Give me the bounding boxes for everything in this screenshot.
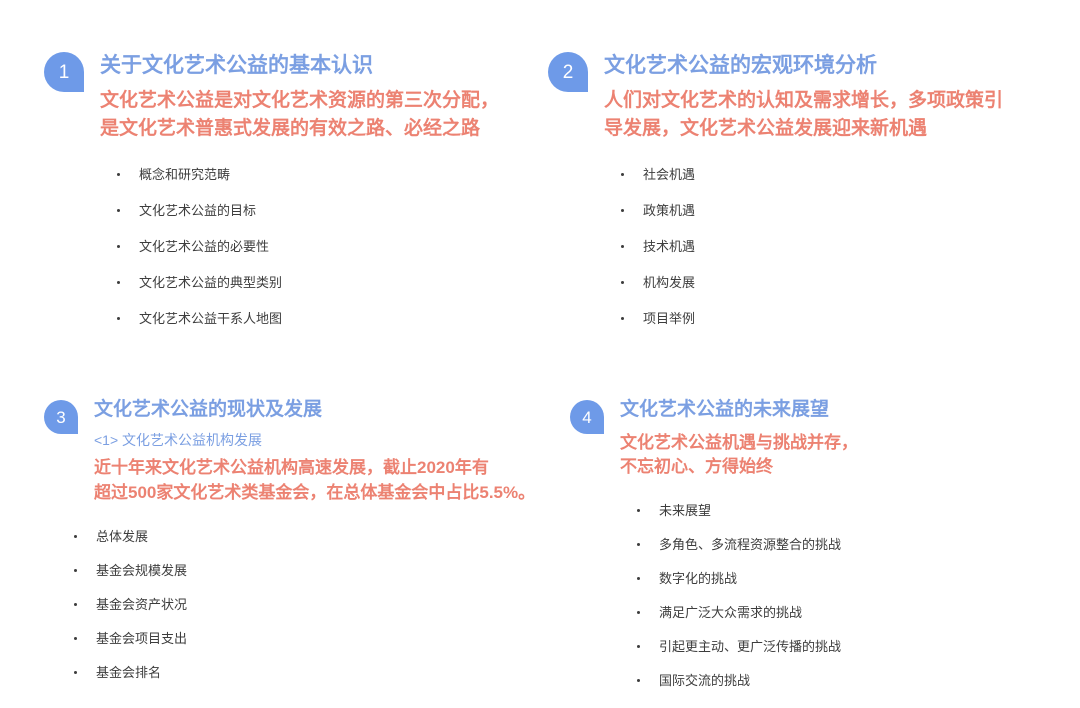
bullet-dot-icon — [621, 245, 624, 248]
summary-line: 文化艺术公益机遇与挑战并存， — [620, 431, 1040, 456]
section-4-bullet-list: 未来展望 多角色、多流程资源整合的挑战 数字化的挑战 满足广泛大众需求的挑战 引… — [633, 504, 1040, 687]
section-2-summary: 人们对文化艺术的认知及需求增长，多项政策引 导发展，文化艺术公益发展迎来新机遇 — [604, 87, 1058, 142]
list-item[interactable]: 文化艺术公益的必要性 — [113, 240, 524, 253]
bullet-dot-icon — [74, 535, 77, 538]
list-item[interactable]: 文化艺术公益干系人地图 — [113, 312, 524, 325]
section-3-bullet-list: 总体发展 基金会规模发展 基金会资产状况 基金会项目支出 基金会排名 — [70, 530, 544, 679]
section-number-badge-4: 4 — [570, 400, 604, 434]
list-item-label: 文化艺术公益干系人地图 — [139, 312, 282, 325]
section-2-content: 文化艺术公益的宏观环境分析 人们对文化艺术的认知及需求增长，多项政策引 导发展，… — [604, 52, 1058, 348]
section-3-sublabel: <1> 文化艺术公益机构发展 — [94, 431, 544, 451]
list-item-label: 引起更主动、更广泛传播的挑战 — [659, 640, 841, 653]
bullet-dot-icon — [117, 317, 120, 320]
bullet-dot-icon — [621, 317, 624, 320]
section-1-bullet-list: 概念和研究范畴 文化艺术公益的目标 文化艺术公益的必要性 文化艺术公益的典型类别… — [113, 168, 524, 325]
list-item-label: 概念和研究范畴 — [139, 168, 230, 181]
summary-line: 导发展，文化艺术公益发展迎来新机遇 — [604, 115, 1058, 143]
section-number-badge-1: 1 — [44, 52, 84, 92]
list-item-label: 数字化的挑战 — [659, 572, 737, 585]
section-3-content: 文化艺术公益的现状及发展 <1> 文化艺术公益机构发展 近十年来文化艺术公益机构… — [94, 398, 544, 700]
bullet-dot-icon — [74, 603, 77, 606]
list-item[interactable]: 基金会项目支出 — [70, 632, 544, 645]
bullet-dot-icon — [117, 173, 120, 176]
section-1-heading: 关于文化艺术公益的基本认识 — [100, 52, 524, 79]
bullet-dot-icon — [117, 281, 120, 284]
list-item[interactable]: 满足广泛大众需求的挑战 — [633, 606, 1040, 619]
section-3-heading: 文化艺术公益的现状及发展 — [94, 398, 544, 423]
summary-line: 近十年来文化艺术公益机构高速发展，截止2020年有 — [94, 456, 544, 481]
section-4: 4 文化艺术公益的未来展望 文化艺术公益机遇与挑战并存， 不忘初心、方得始终 未… — [570, 398, 1040, 708]
list-item[interactable]: 项目举例 — [617, 312, 1058, 325]
outline-grid: 1 关于文化艺术公益的基本认识 文化艺术公益是对文化艺术资源的第三次分配， 是文… — [0, 0, 1080, 700]
list-item[interactable]: 机构发展 — [617, 276, 1058, 289]
section-3-summary: 近十年来文化艺术公益机构高速发展，截止2020年有 超过500家文化艺术类基金会… — [94, 456, 544, 505]
list-item-label: 国际交流的挑战 — [659, 674, 750, 687]
section-4-summary: 文化艺术公益机遇与挑战并存， 不忘初心、方得始终 — [620, 431, 1040, 480]
list-item-label: 技术机遇 — [643, 240, 695, 253]
bullet-dot-icon — [117, 245, 120, 248]
list-item[interactable]: 国际交流的挑战 — [633, 674, 1040, 687]
bullet-dot-icon — [637, 679, 640, 682]
list-item-label: 基金会资产状况 — [96, 598, 187, 611]
list-item-label: 满足广泛大众需求的挑战 — [659, 606, 802, 619]
bullet-dot-icon — [74, 671, 77, 674]
bullet-dot-icon — [74, 637, 77, 640]
list-item[interactable]: 文化艺术公益的目标 — [113, 204, 524, 217]
bullet-dot-icon — [74, 569, 77, 572]
list-item[interactable]: 基金会规模发展 — [70, 564, 544, 577]
list-item[interactable]: 引起更主动、更广泛传播的挑战 — [633, 640, 1040, 653]
summary-line: 人们对文化艺术的认知及需求增长，多项政策引 — [604, 87, 1058, 115]
section-2: 2 文化艺术公益的宏观环境分析 人们对文化艺术的认知及需求增长，多项政策引 导发… — [548, 52, 1058, 348]
section-1-content: 关于文化艺术公益的基本认识 文化艺术公益是对文化艺术资源的第三次分配， 是文化艺… — [100, 52, 524, 348]
list-item-label: 文化艺术公益的典型类别 — [139, 276, 282, 289]
list-item-label: 基金会规模发展 — [96, 564, 187, 577]
list-item-label: 机构发展 — [643, 276, 695, 289]
list-item-label: 项目举例 — [643, 312, 695, 325]
list-item[interactable]: 文化艺术公益的典型类别 — [113, 276, 524, 289]
bullet-dot-icon — [621, 173, 624, 176]
section-number-badge-2: 2 — [548, 52, 588, 92]
summary-line: 超过500家文化艺术类基金会，在总体基金会中占比5.5%。 — [94, 481, 544, 506]
list-item[interactable]: 基金会排名 — [70, 666, 544, 679]
bullet-dot-icon — [637, 543, 640, 546]
list-item[interactable]: 总体发展 — [70, 530, 544, 543]
bullet-dot-icon — [637, 645, 640, 648]
section-2-heading: 文化艺术公益的宏观环境分析 — [604, 52, 1058, 79]
bullet-dot-icon — [637, 611, 640, 614]
section-4-content: 文化艺术公益的未来展望 文化艺术公益机遇与挑战并存， 不忘初心、方得始终 未来展… — [620, 398, 1040, 708]
list-item-label: 总体发展 — [96, 530, 148, 543]
section-4-heading: 文化艺术公益的未来展望 — [620, 398, 1040, 423]
list-item[interactable]: 数字化的挑战 — [633, 572, 1040, 585]
section-2-bullet-list: 社会机遇 政策机遇 技术机遇 机构发展 项目举例 — [617, 168, 1058, 325]
list-item[interactable]: 未来展望 — [633, 504, 1040, 517]
list-item-label: 文化艺术公益的目标 — [139, 204, 256, 217]
section-1: 1 关于文化艺术公益的基本认识 文化艺术公益是对文化艺术资源的第三次分配， 是文… — [44, 52, 524, 348]
summary-line: 不忘初心、方得始终 — [620, 455, 1040, 480]
list-item[interactable]: 社会机遇 — [617, 168, 1058, 181]
section-number-badge-3: 3 — [44, 400, 78, 434]
list-item[interactable]: 多角色、多流程资源整合的挑战 — [633, 538, 1040, 551]
summary-line: 文化艺术公益是对文化艺术资源的第三次分配， — [100, 87, 524, 115]
list-item[interactable]: 政策机遇 — [617, 204, 1058, 217]
bullet-dot-icon — [621, 209, 624, 212]
list-item-label: 基金会排名 — [96, 666, 161, 679]
list-item[interactable]: 概念和研究范畴 — [113, 168, 524, 181]
list-item[interactable]: 基金会资产状况 — [70, 598, 544, 611]
bullet-dot-icon — [637, 577, 640, 580]
bullet-dot-icon — [637, 509, 640, 512]
bullet-dot-icon — [621, 281, 624, 284]
list-item-label: 基金会项目支出 — [96, 632, 187, 645]
summary-line: 是文化艺术普惠式发展的有效之路、必经之路 — [100, 115, 524, 143]
list-item-label: 文化艺术公益的必要性 — [139, 240, 269, 253]
list-item[interactable]: 技术机遇 — [617, 240, 1058, 253]
section-1-summary: 文化艺术公益是对文化艺术资源的第三次分配， 是文化艺术普惠式发展的有效之路、必经… — [100, 87, 524, 142]
list-item-label: 未来展望 — [659, 504, 711, 517]
list-item-label: 多角色、多流程资源整合的挑战 — [659, 538, 841, 551]
list-item-label: 政策机遇 — [643, 204, 695, 217]
list-item-label: 社会机遇 — [643, 168, 695, 181]
section-3: 3 文化艺术公益的现状及发展 <1> 文化艺术公益机构发展 近十年来文化艺术公益… — [44, 398, 544, 700]
bullet-dot-icon — [117, 209, 120, 212]
